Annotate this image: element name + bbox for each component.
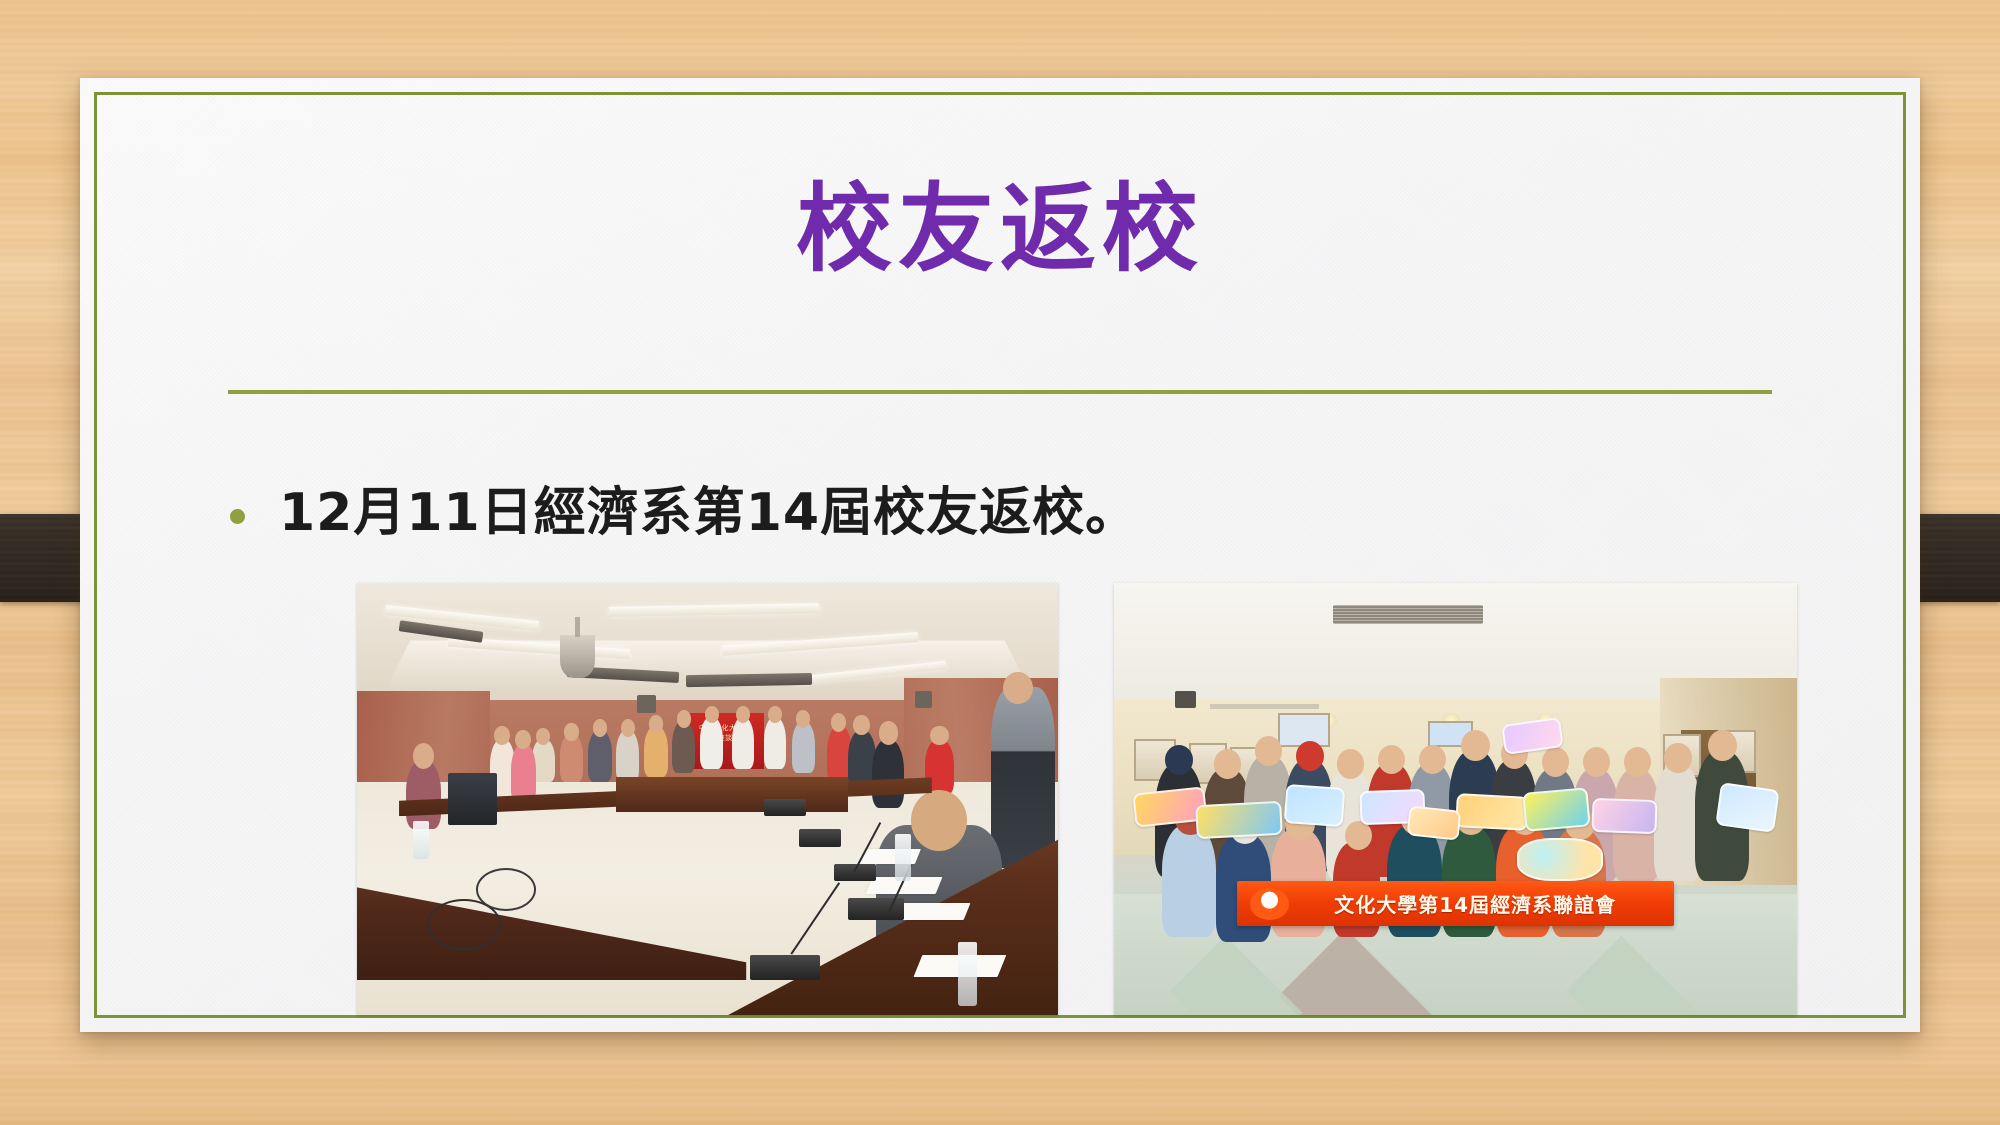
- attendee-head: [705, 706, 719, 723]
- foreground-attendee-head: [911, 790, 967, 850]
- water-bottle: [895, 834, 910, 882]
- attendee: [700, 717, 722, 769]
- group-member-head: [1378, 745, 1405, 774]
- attendee: [644, 726, 668, 778]
- group-photo-illustration: 文化大學第14屆經濟系聯誼會: [1114, 583, 1797, 1015]
- held-sign: [1195, 801, 1283, 840]
- attendee-head: [930, 726, 948, 746]
- water-bottle: [413, 821, 428, 860]
- bullet-list-item: 12月11日經濟系第14屆校友返校。: [230, 483, 1138, 544]
- attendee: [560, 734, 582, 782]
- photo-row: 中國文化大學校友座談會: [357, 583, 1797, 1015]
- group-member-head: [1542, 747, 1569, 777]
- document: [859, 849, 921, 864]
- event-banner-text: 文化大學第14屆經濟系聯誼會: [1289, 889, 1674, 918]
- attendee-head: [677, 710, 691, 727]
- held-sign: [1522, 788, 1591, 832]
- attendee: [588, 730, 612, 782]
- head-table: [616, 777, 847, 812]
- held-sign: [1455, 793, 1529, 831]
- microphone-base: [848, 898, 904, 920]
- group-photo: 文化大學第14屆經濟系聯誼會: [1114, 583, 1797, 1015]
- ceiling-projector-icon: [560, 635, 595, 678]
- page-title: 校友返校: [80, 178, 1920, 282]
- microphone-base: [750, 955, 820, 981]
- attendee: [511, 743, 536, 803]
- standing-attendee: [991, 687, 1054, 868]
- attendee-head: [494, 726, 509, 745]
- held-sign-round: [1517, 838, 1603, 881]
- attendee-head: [736, 706, 750, 723]
- held-sign: [1592, 798, 1659, 834]
- attendee-head: [879, 721, 899, 744]
- water-bottle: [958, 942, 978, 1007]
- attendee: [672, 721, 694, 773]
- conference-room-illustration: 中國文化大學校友座談會: [357, 583, 1058, 1015]
- group-member-head: [1624, 747, 1651, 777]
- group-member-head: [1708, 730, 1737, 761]
- attendee: [872, 739, 904, 808]
- microphone-base: [764, 799, 806, 816]
- ceiling-vent: [686, 673, 812, 687]
- title-divider: [228, 390, 1772, 394]
- event-banner: 文化大學第14屆經濟系聯誼會: [1237, 881, 1674, 926]
- wall-speaker-icon: [915, 691, 932, 708]
- attendee-head: [413, 743, 434, 769]
- standing-attendee-head: [1003, 672, 1032, 704]
- slide-card: 校友返校 12月11日經濟系第14屆校友返校。: [80, 78, 1920, 1032]
- attendee-head: [831, 713, 846, 732]
- group-member-head: [1345, 821, 1372, 850]
- attendee: [732, 717, 754, 769]
- university-logo-icon: [1250, 888, 1289, 920]
- bullet-text: 12月11日經濟系第14屆校友返校。: [279, 483, 1138, 544]
- group-member-head: [1461, 730, 1490, 761]
- group-member-head: [1255, 736, 1282, 765]
- light-track: [1210, 704, 1319, 709]
- attendee: [764, 717, 786, 769]
- slide-stage: 校友返校 12月11日經濟系第14屆校友返校。: [0, 0, 2000, 1125]
- attendee: [792, 721, 816, 773]
- attendee-head: [649, 715, 664, 733]
- attendee: [406, 760, 441, 829]
- desktop-monitor: [448, 773, 497, 825]
- held-sign: [1715, 782, 1779, 833]
- conference-room-photo: 中國文化大學校友座談會: [357, 583, 1058, 1015]
- group-member-front: [1162, 825, 1217, 937]
- group-member-head: [1583, 747, 1610, 777]
- group-member-cap: [1296, 741, 1325, 771]
- held-sign: [1283, 784, 1344, 827]
- attendee: [616, 730, 638, 782]
- held-sign: [1406, 805, 1461, 840]
- group-member-head: [1337, 749, 1364, 778]
- attendee-head: [564, 723, 578, 740]
- group-member-head: [1214, 749, 1241, 778]
- ceiling-vent: [1333, 605, 1483, 624]
- group-member-head: [1419, 745, 1446, 774]
- attendee-head: [621, 719, 635, 737]
- track-light-icon: [1175, 691, 1195, 708]
- group-member-head: [1664, 743, 1691, 773]
- attendee-head: [796, 710, 810, 727]
- microphone-base: [799, 829, 841, 846]
- bullet-marker-icon: [230, 509, 245, 524]
- attendee-head: [768, 706, 782, 723]
- wall-speaker-icon: [637, 695, 655, 712]
- attendee-head: [515, 730, 530, 749]
